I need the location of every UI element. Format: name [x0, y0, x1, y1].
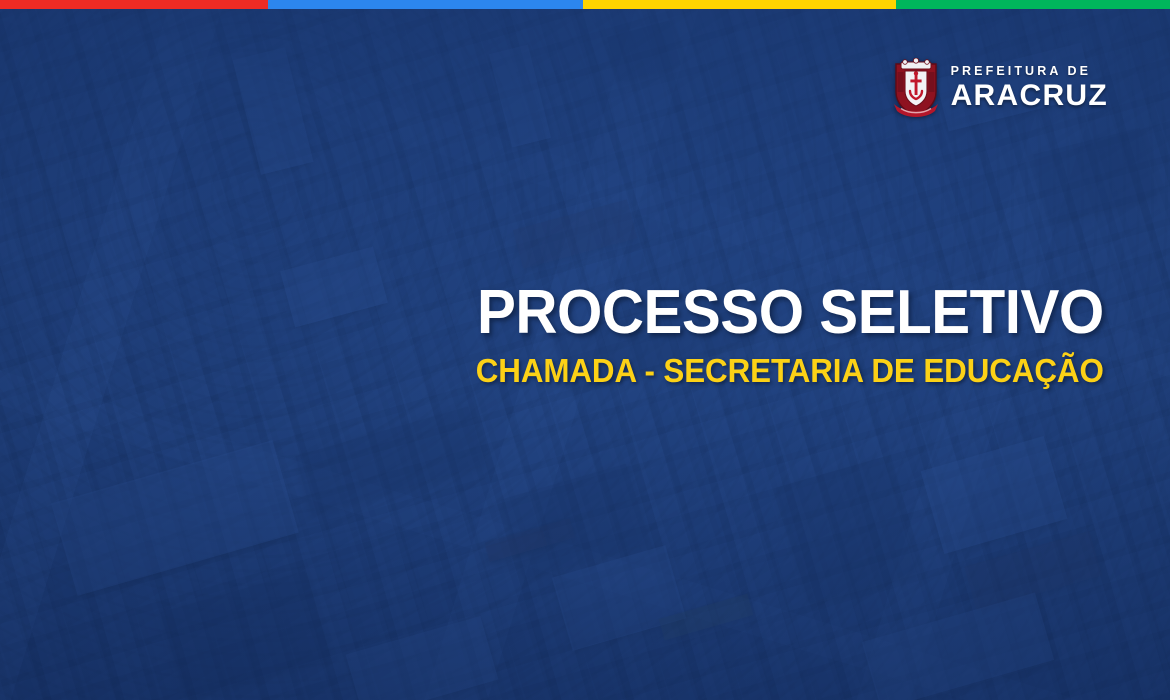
processo-seletivo-banner: PREFEITURA DE ARACRUZ PROCESSO SELETIVO …: [0, 0, 1170, 700]
color-bar-segment-red: [0, 0, 268, 9]
banner-title: PROCESSO SELETIVO: [477, 283, 1104, 343]
color-bar-segment-blue: [268, 0, 583, 9]
color-bar-segment-green: [896, 0, 1170, 9]
color-bar-segment-yellow: [583, 0, 897, 9]
aracruz-coat-of-arms-icon: [892, 58, 940, 118]
brand-color-bar: [0, 0, 1170, 9]
logo-city-name: ARACRUZ: [951, 81, 1108, 111]
headline-block: PROCESSO SELETIVO CHAMADA - SECRETARIA D…: [437, 283, 1104, 387]
logo-wordmark: PREFEITURA DE ARACRUZ: [951, 65, 1108, 112]
banner-subtitle: CHAMADA - SECRETARIA DE EDUCAÇÃO: [471, 354, 1104, 387]
prefeitura-logo: PREFEITURA DE ARACRUZ: [892, 58, 1108, 118]
logo-prefix-text: PREFEITURA DE: [951, 65, 1092, 78]
